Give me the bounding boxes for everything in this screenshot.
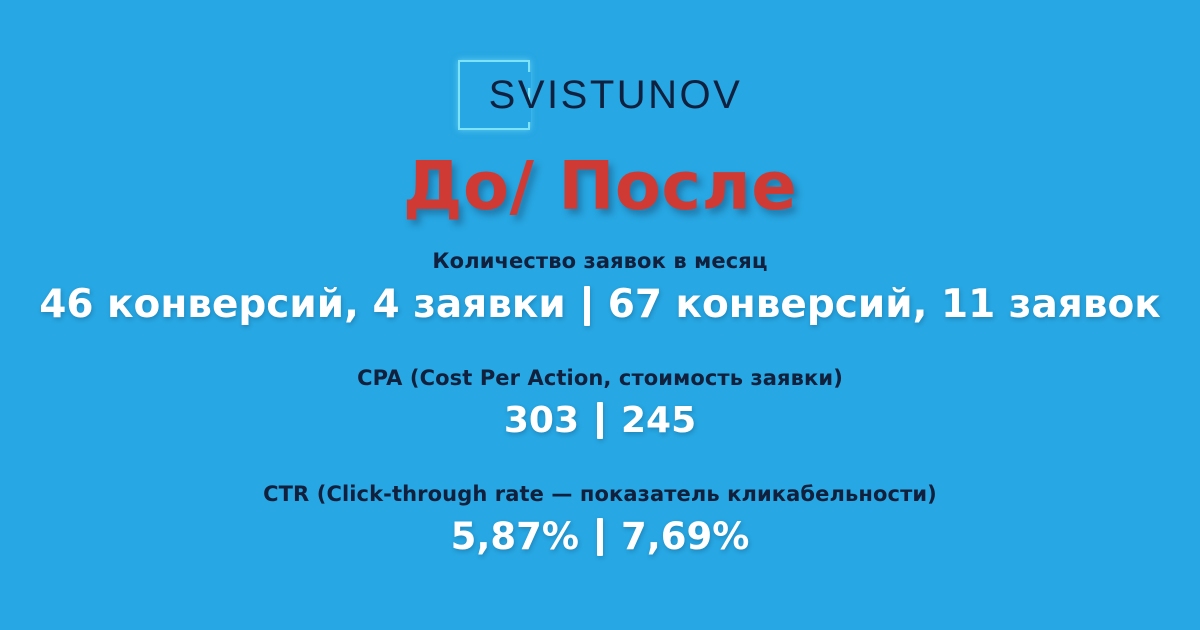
metric-block-requests: Количество заявок в месяц 46 конверсий, … [0,249,1200,328]
page-title: До/ После [0,150,1200,222]
brand-logo: SVISTUNOV [0,52,1200,138]
metric-label: CPA (Cost Per Action, стоимость заявки) [0,366,1200,391]
metric-value-after: 67 конверсий, 11 заявок [608,283,1161,328]
metric-value-before: 303 [504,400,579,441]
value-separator [597,518,603,556]
metric-values: 5,87% 7,69% [0,516,1200,559]
brand-logo-inner: SVISTUNOV [458,52,743,138]
slide-canvas: SVISTUNOV До/ После Количество заявок в … [0,0,1200,630]
metric-values: 303 245 [0,400,1200,441]
metric-values: 46 конверсий, 4 заявки 67 конверсий, 11 … [0,283,1200,328]
value-separator [584,286,590,326]
metric-value-after: 7,69% [621,516,749,559]
metric-block-ctr: CTR (Click-through rate — показатель кли… [0,482,1200,559]
brand-wordmark: SVISTUNOV [489,75,743,115]
metric-label: CTR (Click-through rate — показатель кли… [0,482,1200,507]
metric-block-cpa: CPA (Cost Per Action, стоимость заявки) … [0,366,1200,442]
metric-value-before: 46 конверсий, 4 заявки [39,283,565,328]
value-separator [597,402,603,439]
metric-value-before: 5,87% [451,516,579,559]
metric-label: Количество заявок в месяц [0,249,1200,274]
metric-value-after: 245 [621,400,696,441]
